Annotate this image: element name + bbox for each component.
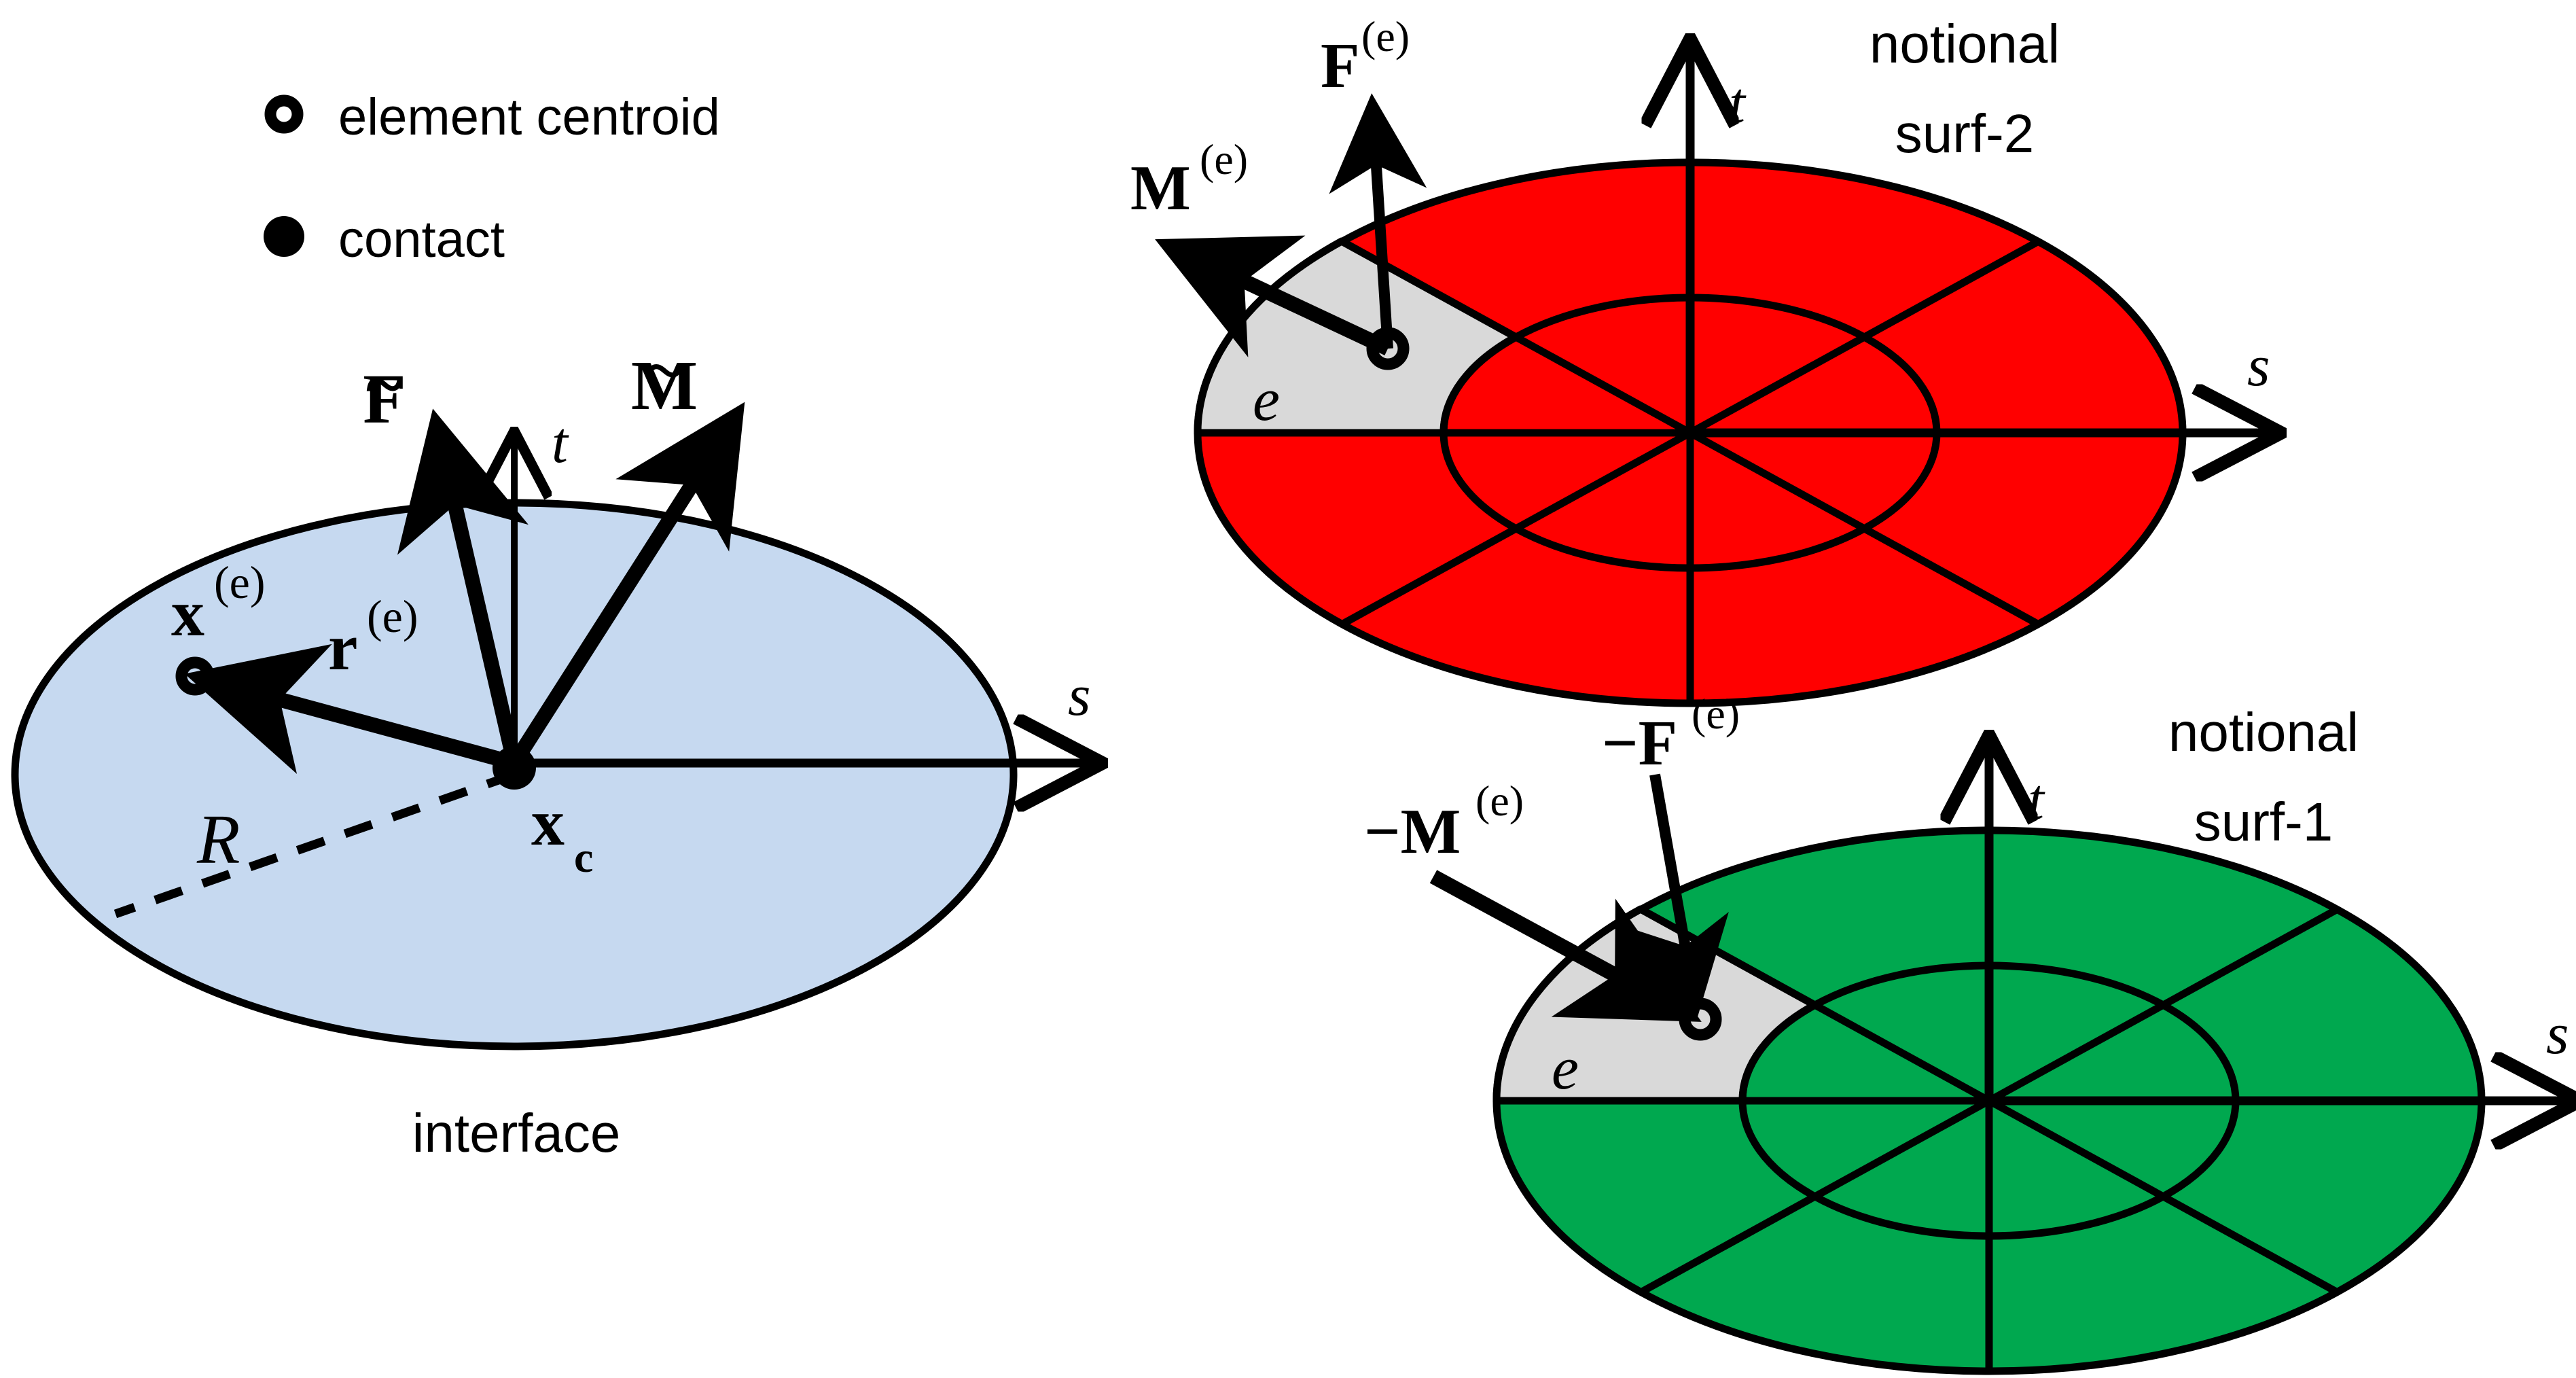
legend: element centroid contact (264, 88, 720, 268)
interface-force-symbol: F (363, 360, 406, 438)
surf2-s-axis-label: s (2247, 333, 2270, 398)
surf1-moment-symbol: −M (1364, 796, 1461, 867)
legend-item-element-centroid: element centroid (270, 88, 720, 146)
surf2-element-label: e (1253, 366, 1280, 434)
surf1-s-axis-label: s (2546, 1001, 2569, 1066)
diagram-canvas: element centroid contact s t ~ F (0, 0, 2576, 1378)
panel-surf2: s t F (e) M (e) e notional surf-2 (1130, 12, 2270, 703)
open-circle-icon (270, 101, 298, 128)
interface-contact-marker (493, 746, 536, 790)
interface-xc-subscript: c (574, 833, 593, 881)
surf1-t-axis-label: t (2028, 766, 2045, 832)
interface-r-vector-superscript: (e) (367, 590, 418, 642)
filled-circle-icon (264, 216, 304, 257)
interface-moment-label: ~ M (631, 332, 698, 425)
legend-label-contact: contact (338, 211, 505, 268)
surf1-force-superscript: (e) (1692, 690, 1740, 738)
surf1-caption-line2: surf-1 (2194, 792, 2333, 852)
surf2-force-label: F (e) (1321, 12, 1410, 101)
surf2-caption-line1: notional (1870, 14, 2060, 74)
surf2-moment-superscript: (e) (1200, 135, 1248, 183)
surf1-caption-line1: notional (2168, 702, 2359, 762)
surf1-moment-superscript: (e) (1475, 777, 1524, 825)
legend-item-contact: contact (264, 211, 505, 268)
surf1-force-symbol: −F (1602, 708, 1677, 779)
surf2-moment-symbol: M (1130, 153, 1191, 224)
interface-s-axis-label: s (1068, 662, 1090, 728)
panel-surf1: s t −F (e) −M (e) e notional surf-1 (1364, 690, 2569, 1371)
interface-x-symbol: x (171, 577, 204, 650)
surf2-t-axis-label: t (1729, 70, 1747, 135)
surf1-moment-label: −M (e) (1364, 777, 1524, 867)
diagram-svg: element centroid contact s t ~ F (0, 0, 2576, 1378)
legend-label-element-centroid: element centroid (338, 88, 720, 146)
interface-x-superscript: (e) (214, 556, 265, 608)
surf2-moment-label: M (e) (1130, 135, 1248, 224)
interface-force-label: ~ F (363, 345, 406, 438)
interface-moment-symbol: M (631, 347, 698, 425)
interface-t-axis-label: t (552, 410, 569, 475)
surf2-caption-line2: surf-2 (1895, 103, 2035, 164)
interface-xc-symbol: x (531, 786, 565, 860)
panel-interface: s t ~ F ~ M r (e) (15, 332, 1090, 1163)
interface-r-vector-symbol: r (328, 611, 358, 684)
surf2-force-superscript: (e) (1361, 12, 1410, 60)
surf1-element-label: e (1552, 1035, 1579, 1102)
interface-caption: interface (412, 1103, 621, 1163)
interface-radius-label: R (196, 800, 240, 879)
surf2-force-symbol: F (1321, 31, 1359, 101)
